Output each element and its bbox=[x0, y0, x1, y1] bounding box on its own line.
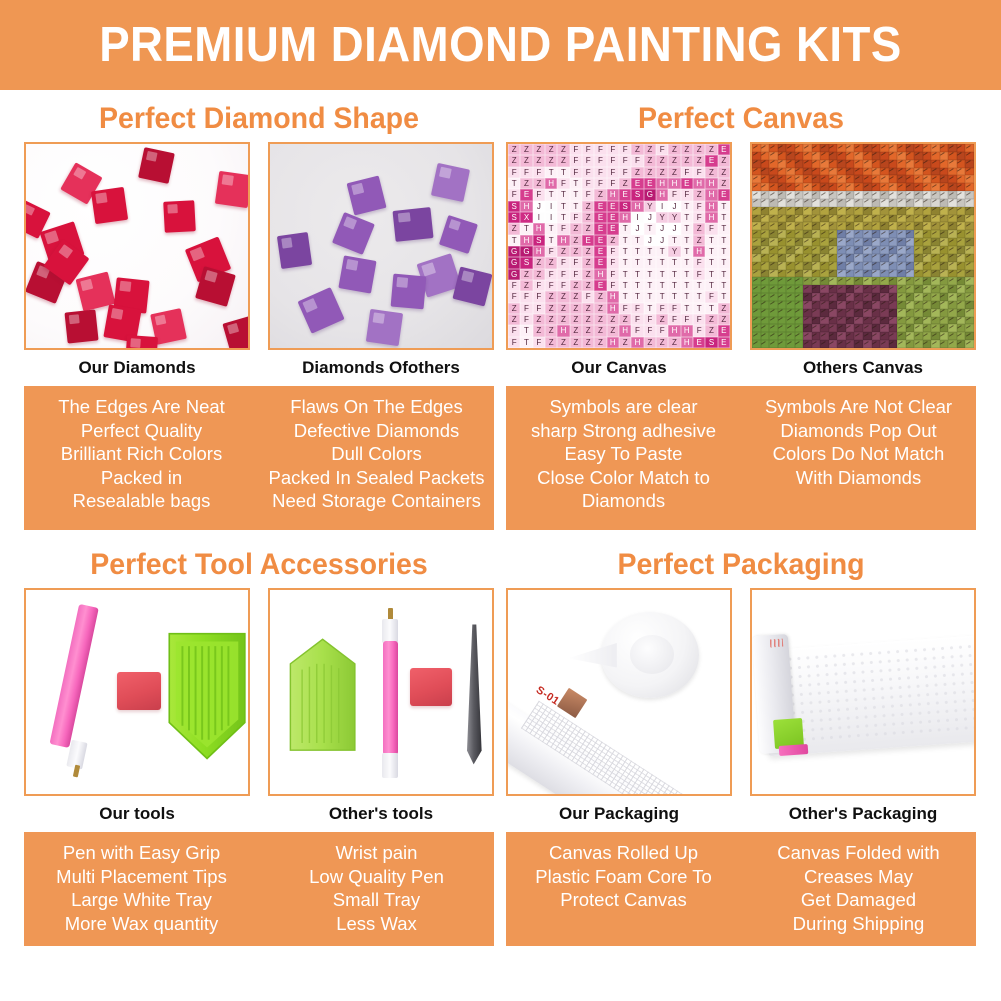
canvas-symbol-cell bbox=[837, 160, 846, 168]
canvas-symbol-cell bbox=[906, 262, 915, 270]
canvas-symbol-cell bbox=[957, 230, 966, 238]
canvas-symbol-cell: F bbox=[570, 155, 582, 166]
canvas-symbol-cell bbox=[863, 175, 872, 183]
canvas-symbol-cell bbox=[880, 168, 889, 176]
canvas-symbol-cell: T bbox=[520, 223, 532, 234]
feature-line: Protect Canvas bbox=[506, 888, 741, 912]
canvas-symbol-cell bbox=[786, 175, 795, 183]
canvas-symbol-cell bbox=[820, 277, 829, 285]
canvas-symbol-cell bbox=[923, 168, 932, 176]
canvas-symbol-cell bbox=[940, 152, 949, 160]
canvas-symbol-cell bbox=[914, 207, 923, 215]
canvas-symbol-cell: J bbox=[644, 212, 656, 223]
feature-line: Brilliant Rich Colors bbox=[24, 442, 259, 466]
canvas-symbol-cell bbox=[854, 285, 863, 293]
canvas-symbol-cell: H bbox=[631, 337, 643, 348]
canvas-symbol-cell: F bbox=[594, 144, 606, 155]
canvas-symbol-cell: Z bbox=[508, 155, 520, 166]
canvas-symbol-cell bbox=[923, 262, 932, 270]
canvas-symbol-cell bbox=[812, 340, 821, 348]
canvas-symbol-cell bbox=[752, 238, 761, 246]
canvas-symbol-cell bbox=[820, 317, 829, 325]
canvas-symbol-cell bbox=[906, 277, 915, 285]
canvas-symbol-cell bbox=[957, 152, 966, 160]
canvas-symbol-cell: F bbox=[607, 178, 619, 189]
canvas-symbol-cell: Z bbox=[520, 280, 532, 291]
canvas-symbol-cell bbox=[965, 199, 974, 207]
canvas-symbol-cell bbox=[948, 238, 957, 246]
canvas-symbol-cell: H bbox=[520, 235, 532, 246]
canvas-symbol-cell bbox=[863, 277, 872, 285]
canvas-symbol-cell bbox=[948, 230, 957, 238]
canvas-symbol-cell: Z bbox=[570, 235, 582, 246]
canvas-symbol-cell bbox=[906, 230, 915, 238]
canvas-symbol-cell bbox=[948, 301, 957, 309]
canvas-symbol-cell bbox=[923, 222, 932, 230]
canvas-symbol-cell bbox=[880, 262, 889, 270]
canvas-symbol-cell bbox=[863, 207, 872, 215]
canvas-symbol-cell bbox=[863, 254, 872, 262]
canvas-symbol-cell bbox=[846, 270, 855, 278]
text-column-others: Symbols Are Not Clear Diamonds Pop Out C… bbox=[741, 395, 976, 519]
image-pair: Our tools bbox=[24, 588, 494, 832]
canvas-symbol-cell bbox=[752, 168, 761, 176]
canvas-symbol-cell: E bbox=[607, 223, 619, 234]
canvas-symbol-cell bbox=[872, 168, 881, 176]
canvas-symbol-cell: F bbox=[668, 189, 680, 200]
canvas-symbol-cell bbox=[846, 340, 855, 348]
canvas-symbol-cell bbox=[940, 230, 949, 238]
canvas-symbol-cell bbox=[872, 324, 881, 332]
canvas-symbol-cell: T bbox=[681, 291, 693, 302]
canvas-symbol-cell bbox=[854, 332, 863, 340]
canvas-symbol-cell: E bbox=[631, 178, 643, 189]
canvas-symbol-cell: F bbox=[607, 144, 619, 155]
canvas-symbol-cell bbox=[872, 270, 881, 278]
canvas-symbol-cell: E bbox=[594, 212, 606, 223]
section-title: Perfect Tool Accessories bbox=[36, 542, 483, 588]
canvas-symbol-cell bbox=[931, 246, 940, 254]
canvas-symbol-cell bbox=[957, 262, 966, 270]
canvas-symbol-cell: Z bbox=[533, 178, 545, 189]
canvas-symbol-cell bbox=[914, 254, 923, 262]
canvas-symbol-cell: I bbox=[533, 212, 545, 223]
canvas-symbol-cell: T bbox=[681, 246, 693, 257]
canvas-symbol-cell: F bbox=[607, 167, 619, 178]
canvas-symbol-cell: T bbox=[718, 235, 730, 246]
image-frame-our-packaging: S-01 bbox=[506, 588, 732, 796]
canvas-symbol-cell: Z bbox=[644, 144, 656, 155]
canvas-symbol-cell: T bbox=[619, 280, 631, 291]
canvas-symbol-cell: T bbox=[644, 269, 656, 280]
comparison-text-block: The Edges Are Neat Perfect Quality Brill… bbox=[24, 386, 494, 530]
canvas-symbol-cell bbox=[880, 191, 889, 199]
canvas-symbol-cell: Z bbox=[545, 337, 557, 348]
photo-symbol-canvas: ZZZZZFFFFFZZFZZZZEZZZZZFFFFFFZZZZZEZFFFT… bbox=[508, 144, 730, 348]
canvas-symbol-cell: Z bbox=[681, 155, 693, 166]
canvas-symbol-cell: F bbox=[681, 314, 693, 325]
canvas-symbol-cell bbox=[889, 340, 898, 348]
canvas-symbol-cell bbox=[795, 222, 804, 230]
canvas-symbol-cell bbox=[795, 230, 804, 238]
canvas-symbol-cell bbox=[752, 277, 761, 285]
canvas-symbol-cell bbox=[889, 317, 898, 325]
canvas-symbol-cell bbox=[897, 277, 906, 285]
canvas-symbol-cell bbox=[854, 183, 863, 191]
canvas-symbol-cell: T bbox=[668, 280, 680, 291]
canvas-symbol-cell bbox=[957, 317, 966, 325]
canvas-symbol-cell: F bbox=[693, 325, 705, 336]
image-pair: ZZZZZFFFFFZZFZZZZEZZZZZFFFFFFZZZZZEZFFFT… bbox=[506, 142, 976, 386]
feature-line: Defective Diamonds bbox=[259, 419, 494, 443]
canvas-symbol-cell bbox=[923, 183, 932, 191]
canvas-symbol-cell: Z bbox=[582, 303, 594, 314]
canvas-symbol-cell bbox=[940, 309, 949, 317]
canvas-symbol-cell bbox=[863, 191, 872, 199]
canvas-symbol-cell: I bbox=[545, 212, 557, 223]
canvas-symbol-cell bbox=[931, 152, 940, 160]
canvas-symbol-cell bbox=[872, 199, 881, 207]
text-column-ours: Symbols are clear sharp Strong adhesive … bbox=[506, 395, 741, 519]
canvas-symbol-cell bbox=[914, 222, 923, 230]
comparison-text-block: Symbols are clear sharp Strong adhesive … bbox=[506, 386, 976, 530]
canvas-symbol-cell: Z bbox=[520, 178, 532, 189]
canvas-symbol-cell bbox=[837, 183, 846, 191]
canvas-symbol-cell bbox=[957, 160, 966, 168]
canvas-symbol-cell bbox=[889, 152, 898, 160]
canvas-symbol-cell bbox=[965, 222, 974, 230]
canvas-symbol-cell: T bbox=[705, 269, 717, 280]
canvas-symbol-cell bbox=[897, 215, 906, 223]
canvas-symbol-cell: F bbox=[570, 144, 582, 155]
canvas-symbol-cell bbox=[846, 230, 855, 238]
canvas-symbol-cell: H bbox=[607, 303, 619, 314]
canvas-symbol-cell: T bbox=[668, 235, 680, 246]
canvas-symbol-cell bbox=[837, 238, 846, 246]
canvas-symbol-cell bbox=[965, 270, 974, 278]
canvas-symbol-cell bbox=[880, 340, 889, 348]
canvas-symbol-cell: F bbox=[619, 303, 631, 314]
feature-line: Resealable bags bbox=[24, 489, 259, 513]
canvas-symbol-cell bbox=[923, 152, 932, 160]
canvas-symbol-cell bbox=[940, 238, 949, 246]
canvas-symbol-cell bbox=[778, 285, 787, 293]
canvas-symbol-cell: Z bbox=[520, 269, 532, 280]
canvas-symbol-cell: F bbox=[582, 144, 594, 155]
canvas-symbol-cell bbox=[752, 293, 761, 301]
canvas-symbol-cell: Z bbox=[705, 167, 717, 178]
canvas-symbol-cell: S bbox=[705, 337, 717, 348]
canvas-symbol-cell bbox=[854, 175, 863, 183]
canvas-symbol-cell bbox=[812, 199, 821, 207]
text-column-ours: Canvas Rolled Up Plastic Foam Core To Pr… bbox=[506, 841, 741, 935]
canvas-symbol-cell bbox=[880, 183, 889, 191]
canvas-symbol-cell bbox=[812, 301, 821, 309]
canvas-symbol-cell bbox=[778, 199, 787, 207]
canvas-symbol-cell: F bbox=[619, 144, 631, 155]
canvas-symbol-cell bbox=[837, 317, 846, 325]
canvas-symbol-cell bbox=[829, 301, 838, 309]
canvas-symbol-cell: F bbox=[681, 167, 693, 178]
canvas-symbol-cell: G bbox=[520, 246, 532, 257]
canvas-symbol-cell bbox=[786, 324, 795, 332]
canvas-symbol-cell: F bbox=[582, 167, 594, 178]
canvas-symbol-cell bbox=[795, 332, 804, 340]
canvas-symbol-cell bbox=[786, 222, 795, 230]
section-title: Perfect Diamond Shape bbox=[36, 96, 483, 142]
canvas-symbol-cell: F bbox=[631, 155, 643, 166]
canvas-symbol-cell bbox=[965, 285, 974, 293]
canvas-symbol-cell: F bbox=[619, 167, 631, 178]
canvas-symbol-cell bbox=[778, 152, 787, 160]
canvas-symbol-cell: E bbox=[594, 280, 606, 291]
feature-line: Symbols Are Not Clear bbox=[741, 395, 976, 419]
canvas-symbol-cell: E bbox=[693, 337, 705, 348]
canvas-symbol-cell bbox=[957, 246, 966, 254]
canvas-symbol-cell bbox=[863, 246, 872, 254]
canvas-symbol-cell: E bbox=[594, 223, 606, 234]
canvas-symbol-cell bbox=[846, 183, 855, 191]
canvas-symbol-cell: Y bbox=[644, 201, 656, 212]
canvas-symbol-cell bbox=[872, 191, 881, 199]
canvas-symbol-cell: E bbox=[705, 155, 717, 166]
canvas-symbol-cell: Z bbox=[607, 325, 619, 336]
canvas-symbol-cell bbox=[786, 332, 795, 340]
canvas-symbol-cell: Z bbox=[594, 189, 606, 200]
canvas-symbol-cell bbox=[778, 309, 787, 317]
canvas-symbol-cell bbox=[786, 230, 795, 238]
canvas-symbol-cell bbox=[906, 144, 915, 152]
canvas-symbol-cell bbox=[812, 324, 821, 332]
canvas-symbol-cell bbox=[752, 309, 761, 317]
canvas-symbol-cell bbox=[786, 309, 795, 317]
canvas-symbol-cell bbox=[803, 246, 812, 254]
canvas-symbol-cell bbox=[889, 175, 898, 183]
image-pair: S-01 Our Packaging bbox=[506, 588, 976, 832]
canvas-symbol-cell bbox=[795, 215, 804, 223]
canvas-symbol-cell bbox=[965, 309, 974, 317]
canvas-symbol-cell bbox=[837, 168, 846, 176]
canvas-symbol-cell bbox=[752, 230, 761, 238]
canvas-symbol-cell bbox=[778, 301, 787, 309]
canvas-symbol-cell bbox=[803, 317, 812, 325]
canvas-symbol-cell bbox=[923, 215, 932, 223]
canvas-symbol-cell bbox=[837, 230, 846, 238]
canvas-symbol-cell bbox=[931, 230, 940, 238]
canvas-symbol-cell bbox=[829, 183, 838, 191]
canvas-symbol-cell bbox=[778, 262, 787, 270]
canvas-symbol-cell: F bbox=[520, 291, 532, 302]
canvas-symbol-cell bbox=[965, 160, 974, 168]
canvas-symbol-cell bbox=[889, 277, 898, 285]
canvas-symbol-cell bbox=[914, 324, 923, 332]
canvas-symbol-cell bbox=[880, 332, 889, 340]
canvas-symbol-cell bbox=[880, 301, 889, 309]
canvas-symbol-cell bbox=[889, 246, 898, 254]
canvas-symbol-cell bbox=[880, 309, 889, 317]
canvas-symbol-cell bbox=[965, 175, 974, 183]
canvas-symbol-cell: T bbox=[718, 223, 730, 234]
canvas-symbol-cell bbox=[880, 277, 889, 285]
canvas-symbol-cell: F bbox=[681, 189, 693, 200]
canvas-symbol-cell: Z bbox=[533, 325, 545, 336]
canvas-symbol-cell: Z bbox=[582, 314, 594, 325]
canvas-symbol-cell bbox=[931, 144, 940, 152]
canvas-symbol-cell bbox=[863, 270, 872, 278]
canvas-symbol-cell bbox=[769, 277, 778, 285]
canvas-symbol-cell bbox=[778, 183, 787, 191]
canvas-symbol-cell: T bbox=[508, 178, 520, 189]
canvas-symbol-cell: Y bbox=[656, 212, 668, 223]
canvas-symbol-cell: T bbox=[631, 280, 643, 291]
canvas-symbol-cell bbox=[948, 152, 957, 160]
canvas-symbol-cell bbox=[889, 301, 898, 309]
canvas-symbol-cell bbox=[752, 262, 761, 270]
canvas-symbol-cell bbox=[872, 262, 881, 270]
canvas-symbol-cell bbox=[820, 246, 829, 254]
image-caption: Our Diamonds bbox=[24, 350, 250, 386]
canvas-symbol-cell: T bbox=[693, 280, 705, 291]
canvas-symbol-cell bbox=[752, 222, 761, 230]
canvas-symbol-cell bbox=[914, 301, 923, 309]
canvas-symbol-cell bbox=[897, 144, 906, 152]
canvas-symbol-cell: Z bbox=[693, 223, 705, 234]
canvas-symbol-cell: Z bbox=[631, 144, 643, 155]
canvas-symbol-cell: F bbox=[607, 257, 619, 268]
canvas-symbol-cell: F bbox=[705, 223, 717, 234]
canvas-symbol-cell bbox=[897, 238, 906, 246]
feature-line: Easy To Paste bbox=[506, 442, 741, 466]
canvas-symbol-cell bbox=[940, 332, 949, 340]
canvas-symbol-cell: Z bbox=[508, 144, 520, 155]
canvas-symbol-cell bbox=[906, 152, 915, 160]
compare-cell-others: Diamonds Ofothers bbox=[268, 142, 494, 386]
canvas-symbol-cell: F bbox=[705, 291, 717, 302]
canvas-symbol-cell bbox=[854, 293, 863, 301]
canvas-symbol-cell bbox=[769, 168, 778, 176]
canvas-symbol-cell: F bbox=[631, 325, 643, 336]
canvas-symbol-cell bbox=[778, 324, 787, 332]
canvas-symbol-cell: Z bbox=[644, 155, 656, 166]
canvas-symbol-cell bbox=[837, 222, 846, 230]
canvas-symbol-cell bbox=[752, 317, 761, 325]
canvas-symbol-cell bbox=[761, 199, 770, 207]
canvas-symbol-cell: Z bbox=[631, 167, 643, 178]
canvas-symbol-cell bbox=[761, 175, 770, 183]
canvas-symbol-cell: E bbox=[607, 201, 619, 212]
canvas-symbol-cell: X bbox=[520, 212, 532, 223]
canvas-symbol-cell bbox=[872, 293, 881, 301]
feature-line: Canvas Folded with bbox=[741, 841, 976, 865]
canvas-symbol-cell bbox=[889, 215, 898, 223]
canvas-symbol-cell bbox=[837, 207, 846, 215]
canvas-symbol-cell: Z bbox=[520, 155, 532, 166]
canvas-symbol-cell: J bbox=[631, 223, 643, 234]
canvas-symbol-cell bbox=[829, 215, 838, 223]
canvas-symbol-cell bbox=[837, 254, 846, 262]
canvas-symbol-cell: Z bbox=[718, 167, 730, 178]
canvas-symbol-cell: T bbox=[668, 257, 680, 268]
feature-line: Wrist pain bbox=[259, 841, 494, 865]
canvas-symbol-cell: F bbox=[644, 325, 656, 336]
canvas-symbol-cell bbox=[752, 332, 761, 340]
canvas-symbol-cell bbox=[897, 285, 906, 293]
canvas-symbol-cell bbox=[812, 238, 821, 246]
canvas-symbol-cell bbox=[786, 160, 795, 168]
canvas-symbol-cell bbox=[803, 175, 812, 183]
canvas-symbol-cell bbox=[829, 317, 838, 325]
canvas-symbol-cell bbox=[872, 238, 881, 246]
canvas-symbol-cell: F bbox=[508, 325, 520, 336]
canvas-symbol-cell bbox=[931, 238, 940, 246]
canvas-symbol-cell bbox=[880, 246, 889, 254]
canvas-symbol-cell: F bbox=[508, 337, 520, 348]
canvas-symbol-cell bbox=[761, 324, 770, 332]
canvas-symbol-cell bbox=[940, 317, 949, 325]
canvas-symbol-cell: F bbox=[533, 189, 545, 200]
canvas-symbol-cell: T bbox=[631, 257, 643, 268]
canvas-symbol-cell bbox=[965, 168, 974, 176]
canvas-symbol-cell bbox=[897, 207, 906, 215]
canvas-symbol-cell bbox=[761, 309, 770, 317]
canvas-symbol-cell: G bbox=[508, 269, 520, 280]
canvas-symbol-cell bbox=[948, 317, 957, 325]
canvas-symbol-cell bbox=[897, 301, 906, 309]
canvas-symbol-cell bbox=[897, 191, 906, 199]
canvas-symbol-cell bbox=[923, 230, 932, 238]
canvas-symbol-cell bbox=[829, 309, 838, 317]
canvas-symbol-cell bbox=[829, 285, 838, 293]
canvas-symbol-cell bbox=[948, 160, 957, 168]
canvas-symbol-cell bbox=[948, 293, 957, 301]
canvas-symbol-cell bbox=[803, 191, 812, 199]
canvas-symbol-cell bbox=[837, 332, 846, 340]
canvas-symbol-cell bbox=[846, 317, 855, 325]
canvas-symbol-cell: F bbox=[508, 167, 520, 178]
canvas-symbol-cell bbox=[872, 301, 881, 309]
canvas-symbol-cell bbox=[931, 175, 940, 183]
canvas-symbol-cell bbox=[846, 246, 855, 254]
canvas-symbol-cell: Z bbox=[668, 155, 680, 166]
canvas-symbol-cell: F bbox=[693, 167, 705, 178]
canvas-symbol-cell bbox=[948, 285, 957, 293]
feature-line: Close Color Match to bbox=[506, 466, 741, 490]
canvas-symbol-cell: F bbox=[693, 269, 705, 280]
canvas-symbol-cell bbox=[812, 285, 821, 293]
canvas-symbol-cell: Z bbox=[693, 144, 705, 155]
canvas-symbol-cell bbox=[854, 262, 863, 270]
canvas-symbol-cell bbox=[820, 199, 829, 207]
canvas-symbol-cell bbox=[786, 207, 795, 215]
canvas-symbol-cell bbox=[803, 144, 812, 152]
canvas-symbol-cell bbox=[906, 246, 915, 254]
canvas-symbol-cell bbox=[889, 262, 898, 270]
canvas-symbol-cell: Z bbox=[656, 337, 668, 348]
canvas-symbol-cell: H bbox=[607, 337, 619, 348]
canvas-symbol-cell bbox=[837, 152, 846, 160]
canvas-symbol-cell bbox=[761, 144, 770, 152]
canvas-symbol-cell bbox=[948, 144, 957, 152]
canvas-symbol-cell bbox=[872, 285, 881, 293]
canvas-symbol-cell bbox=[897, 262, 906, 270]
canvas-symbol-cell: Z bbox=[644, 167, 656, 178]
canvas-symbol-cell: E bbox=[718, 337, 730, 348]
canvas-symbol-cell bbox=[820, 301, 829, 309]
canvas-symbol-cell: H bbox=[557, 235, 569, 246]
canvas-symbol-cell bbox=[889, 230, 898, 238]
canvas-symbol-cell: Z bbox=[607, 314, 619, 325]
image-caption: Others Canvas bbox=[750, 350, 976, 386]
